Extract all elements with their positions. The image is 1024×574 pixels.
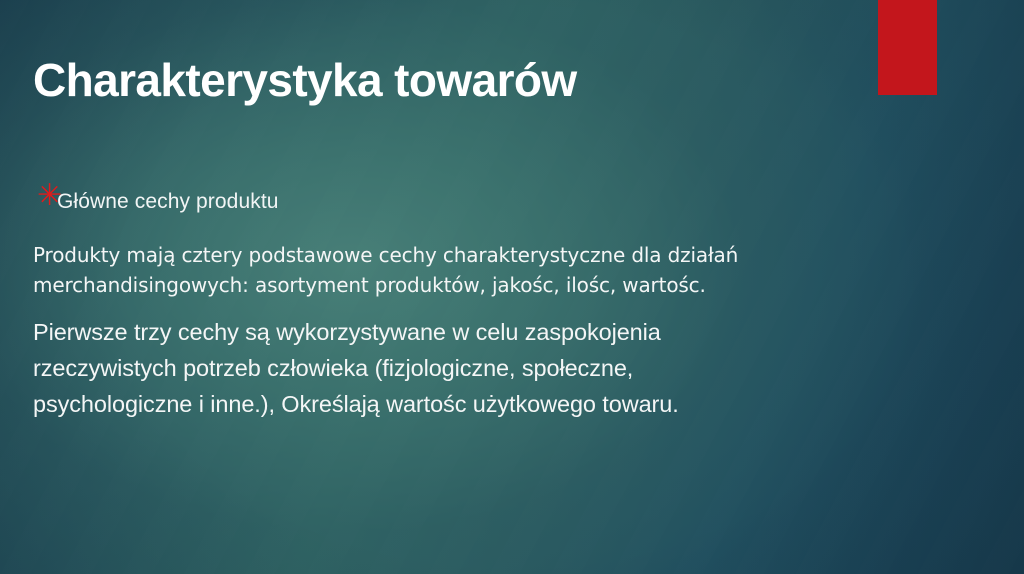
presentation-slide: Charakterystyka towarów ✳ Główne cechy p… [0, 0, 1024, 574]
paragraph-one: Produkty mają cztery podstawowe cechy ch… [33, 240, 885, 300]
paragraph-two-line-1: Pierwsze trzy cechy są wykorzystywane w … [33, 314, 913, 350]
red-accent-rectangle [878, 0, 937, 95]
paragraph-one-line-2: merchandisingowych: asortyment produktów… [33, 270, 885, 300]
paragraph-one-line-1: Produkty mają cztery podstawowe cechy ch… [33, 240, 885, 270]
slide-body: ✳ Główne cechy produktu Produkty mają cz… [33, 188, 933, 432]
slide-title: Charakterystyka towarów [33, 56, 853, 106]
paragraph-two: Pierwsze trzy cechy są wykorzystywane w … [33, 314, 913, 422]
paragraph-two-line-3: psychologiczne i inne.), Określają warto… [33, 386, 913, 422]
bullet-item-label: Główne cechy produktu [57, 190, 279, 213]
paragraph-two-line-2: rzeczywistych potrzeb człowieka (fizjolo… [33, 350, 913, 386]
asterisk-bullet-icon: ✳ [37, 181, 62, 211]
bullet-list-item: ✳ Główne cechy produktu [33, 188, 933, 216]
